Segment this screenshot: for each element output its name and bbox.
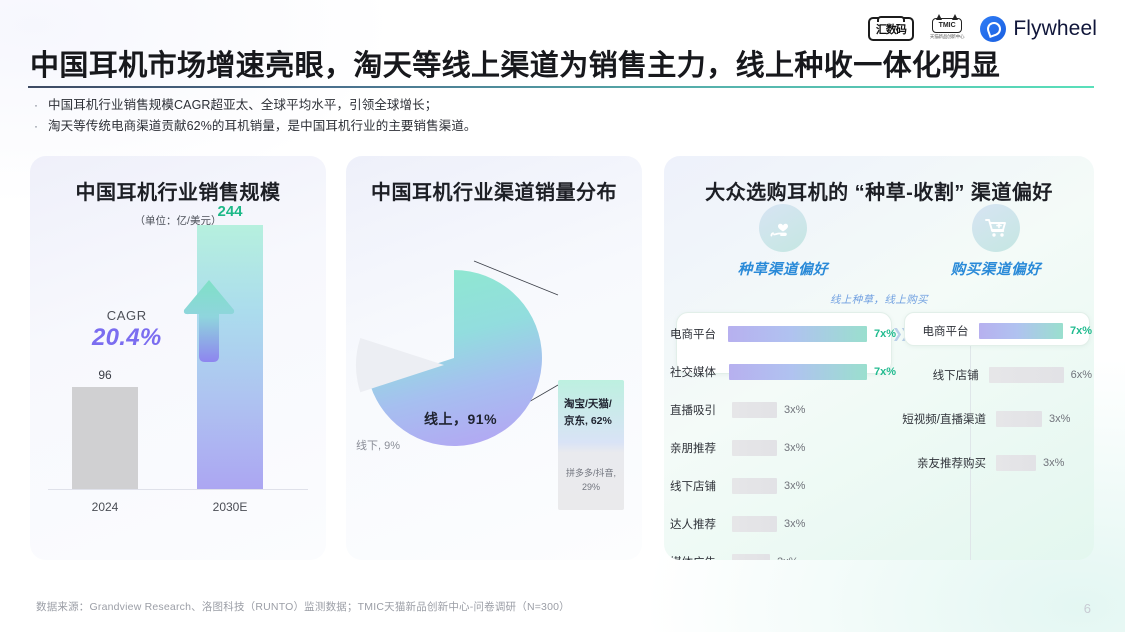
- preference-row-label: 线下店铺: [900, 367, 989, 383]
- preference-row: 媒体广告2x%: [670, 553, 896, 560]
- channel-pie-chart: 线上，91% 线下, 9% 淘宝/天猫/京东, 62% 拼多多/抖音, 29%: [346, 205, 642, 505]
- preference-row: 达人推荐3x%: [670, 515, 896, 533]
- panel-pref-title: 大众选购耳机的 “种草-收割” 渠道偏好: [664, 176, 1094, 205]
- cart-plus-icon: [972, 204, 1020, 252]
- preference-row-value: 3x%: [1049, 413, 1070, 425]
- preference-row-label: 亲朋推荐: [670, 440, 732, 456]
- preference-row-bar: [732, 478, 777, 494]
- cagr-annotation: CAGR 20.4%: [92, 308, 162, 352]
- preference-row-label: 电商平台: [670, 326, 728, 342]
- cagr-label: CAGR: [92, 308, 162, 323]
- page-title: 中国耳机市场增速亮眼，淘天等线上渠道为销售主力，线上种收一体化明显: [30, 42, 1000, 84]
- preference-row-label: 达人推荐: [670, 516, 732, 532]
- pie-callout-box: 淘宝/天猫/京东, 62% 拼多多/抖音, 29%: [558, 380, 624, 510]
- seeding-header-label: 种草渠道偏好: [670, 258, 896, 279]
- preference-row-value: 2x%: [777, 556, 798, 560]
- sales-bar-chart: 96 244 2024 2030E CAGR 20.4%: [30, 232, 326, 532]
- slide: 汇数码 TMIC 天猫新品创新中心 Flywheel 中国耳机市场增速亮眼，淘天…: [0, 0, 1125, 632]
- huishuma-logo: 汇数码: [868, 17, 914, 41]
- preference-row-value: 6x%: [1071, 369, 1092, 381]
- flow-note: 线上种草，线上购买: [664, 292, 1094, 307]
- preference-row-value: 3x%: [784, 518, 805, 530]
- preference-row: 电商平台7x%: [900, 322, 1092, 340]
- preference-row-value: 3x%: [784, 480, 805, 492]
- preference-row: 直播吸引3x%: [670, 401, 896, 419]
- pie-label-offline: 线下, 9%: [356, 437, 400, 453]
- hand-heart-icon: [759, 204, 807, 252]
- preference-row: 社交媒体7x%: [670, 363, 896, 381]
- preference-row-bar: [996, 455, 1036, 471]
- preference-row-bar: [728, 326, 867, 342]
- panel-channel-preference: 大众选购耳机的 “种草-收割” 渠道偏好 种草渠道偏好 ❯❯❯: [664, 156, 1094, 560]
- preference-row-bar: [732, 554, 770, 560]
- flywheel-logo: Flywheel: [980, 16, 1097, 42]
- flywheel-logo-text: Flywheel: [1013, 17, 1097, 41]
- preference-row-value: 7x%: [1070, 325, 1092, 337]
- column-divider: [970, 328, 971, 560]
- cagr-value: 20.4%: [92, 324, 162, 352]
- preference-column-purchase: 购买渠道偏好 电商平台7x%线下店铺6x%短视频/直播渠道3x%亲友推荐购买3x…: [900, 204, 1092, 288]
- preference-row-label: 电商平台: [900, 323, 979, 339]
- huishuma-logo-text: 汇数码: [876, 21, 906, 37]
- preference-row-label: 短视频/直播渠道: [900, 411, 996, 427]
- callout-secondary-text: 拼多多/抖音, 29%: [558, 466, 624, 494]
- bar-value-2030e: 244: [197, 203, 263, 220]
- purchase-header-label: 购买渠道偏好: [900, 258, 1092, 279]
- preference-row-bar: [989, 367, 1064, 383]
- bullet-marker: ·: [34, 96, 48, 114]
- chart-axis-line: [48, 489, 308, 490]
- preference-row-label: 社交媒体: [670, 364, 729, 380]
- tmic-logo-mark: TMIC: [932, 18, 962, 33]
- bullet-list: · 中国耳机行业销售规模CAGR超亚太、全球平均水平，引领全球增长； · 淘天等…: [34, 96, 477, 138]
- preference-row-bar: [729, 364, 867, 380]
- bullet-text: 中国耳机行业销售规模CAGR超亚太、全球平均水平，引领全球增长；: [48, 96, 437, 114]
- title-divider: [28, 86, 1094, 88]
- panel-sales-scale: 中国耳机行业销售规模 （单位：亿/美元） 96 244 2024 2030E C…: [30, 156, 326, 560]
- preference-row-label: 媒体广告: [670, 554, 732, 560]
- preference-row-value: 3x%: [784, 442, 805, 454]
- seeding-header: 种草渠道偏好: [670, 204, 896, 288]
- preference-row: 线下店铺6x%: [900, 366, 1092, 384]
- preference-row-value: 7x%: [874, 366, 896, 378]
- preference-row-label: 线下店铺: [670, 478, 732, 494]
- preference-row-bar: [979, 323, 1063, 339]
- page-number: 6: [1084, 601, 1091, 616]
- bullet-item: · 中国耳机行业销售规模CAGR超亚太、全球平均水平，引领全球增长；: [34, 96, 477, 114]
- preference-column-seeding: 种草渠道偏好 ❯❯❯ 电商平台7x%社交媒体7x%直播吸引3x%亲朋推荐3x%线…: [670, 204, 896, 288]
- preference-row: 亲朋推荐3x%: [670, 439, 896, 457]
- panel-sales-subtitle: （单位：亿/美元）: [30, 213, 326, 228]
- tmic-logo-text: TMIC: [939, 22, 956, 29]
- flywheel-mark-icon: [980, 16, 1006, 42]
- preference-row: 亲友推荐购买3x%: [900, 454, 1092, 472]
- bar-label-2024: 2024: [72, 500, 138, 514]
- preference-row-bar: [996, 411, 1042, 427]
- bar-2024: [72, 387, 138, 489]
- preference-row-value: 3x%: [1043, 457, 1064, 469]
- panel-channel-title: 中国耳机行业渠道销量分布: [346, 176, 642, 205]
- preference-row-bar: [732, 402, 777, 418]
- pie-svg: [354, 253, 554, 463]
- tmic-logo-caption: 天猫新品创新中心: [930, 34, 964, 40]
- growth-arrow-up-icon: [182, 278, 236, 364]
- purchase-header: 购买渠道偏好: [900, 204, 1092, 288]
- bar-value-2024: 96: [72, 368, 138, 382]
- bar-label-2030e: 2030E: [197, 500, 263, 514]
- preference-row-label: 直播吸引: [670, 402, 732, 418]
- preference-row-label: 亲友推荐购买: [900, 455, 996, 471]
- preference-row-value: 3x%: [784, 404, 805, 416]
- panel-sales-title: 中国耳机行业销售规模: [30, 176, 326, 205]
- preference-row-bar: [732, 516, 777, 532]
- preference-row-bar: [732, 440, 777, 456]
- preference-row-value: 7x%: [874, 328, 896, 340]
- bullet-item: · 淘天等传统电商渠道贡献62%的耳机销量，是中国耳机行业的主要销售渠道。: [34, 117, 477, 135]
- panel-channel-distribution: 中国耳机行业渠道销量分布: [346, 156, 642, 560]
- data-source-note: 数据来源：Grandview Research、洛图科技（RUNTO）监测数据；…: [36, 599, 570, 614]
- pie-label-online: 线上，91%: [424, 409, 497, 429]
- tmic-logo: TMIC 天猫新品创新中心: [930, 18, 964, 40]
- preference-columns: 种草渠道偏好 ❯❯❯ 电商平台7x%社交媒体7x%直播吸引3x%亲朋推荐3x%线…: [664, 204, 1094, 560]
- preference-row: 电商平台7x%: [670, 325, 896, 343]
- bullet-text: 淘天等传统电商渠道贡献62%的耳机销量，是中国耳机行业的主要销售渠道。: [48, 117, 477, 135]
- callout-primary-text: 淘宝/天猫/京东, 62%: [558, 380, 624, 430]
- bullet-marker: ·: [34, 117, 48, 135]
- preference-row: 短视频/直播渠道3x%: [900, 410, 1092, 428]
- preference-row: 线下店铺3x%: [670, 477, 896, 495]
- logo-group: 汇数码 TMIC 天猫新品创新中心 Flywheel: [868, 16, 1097, 42]
